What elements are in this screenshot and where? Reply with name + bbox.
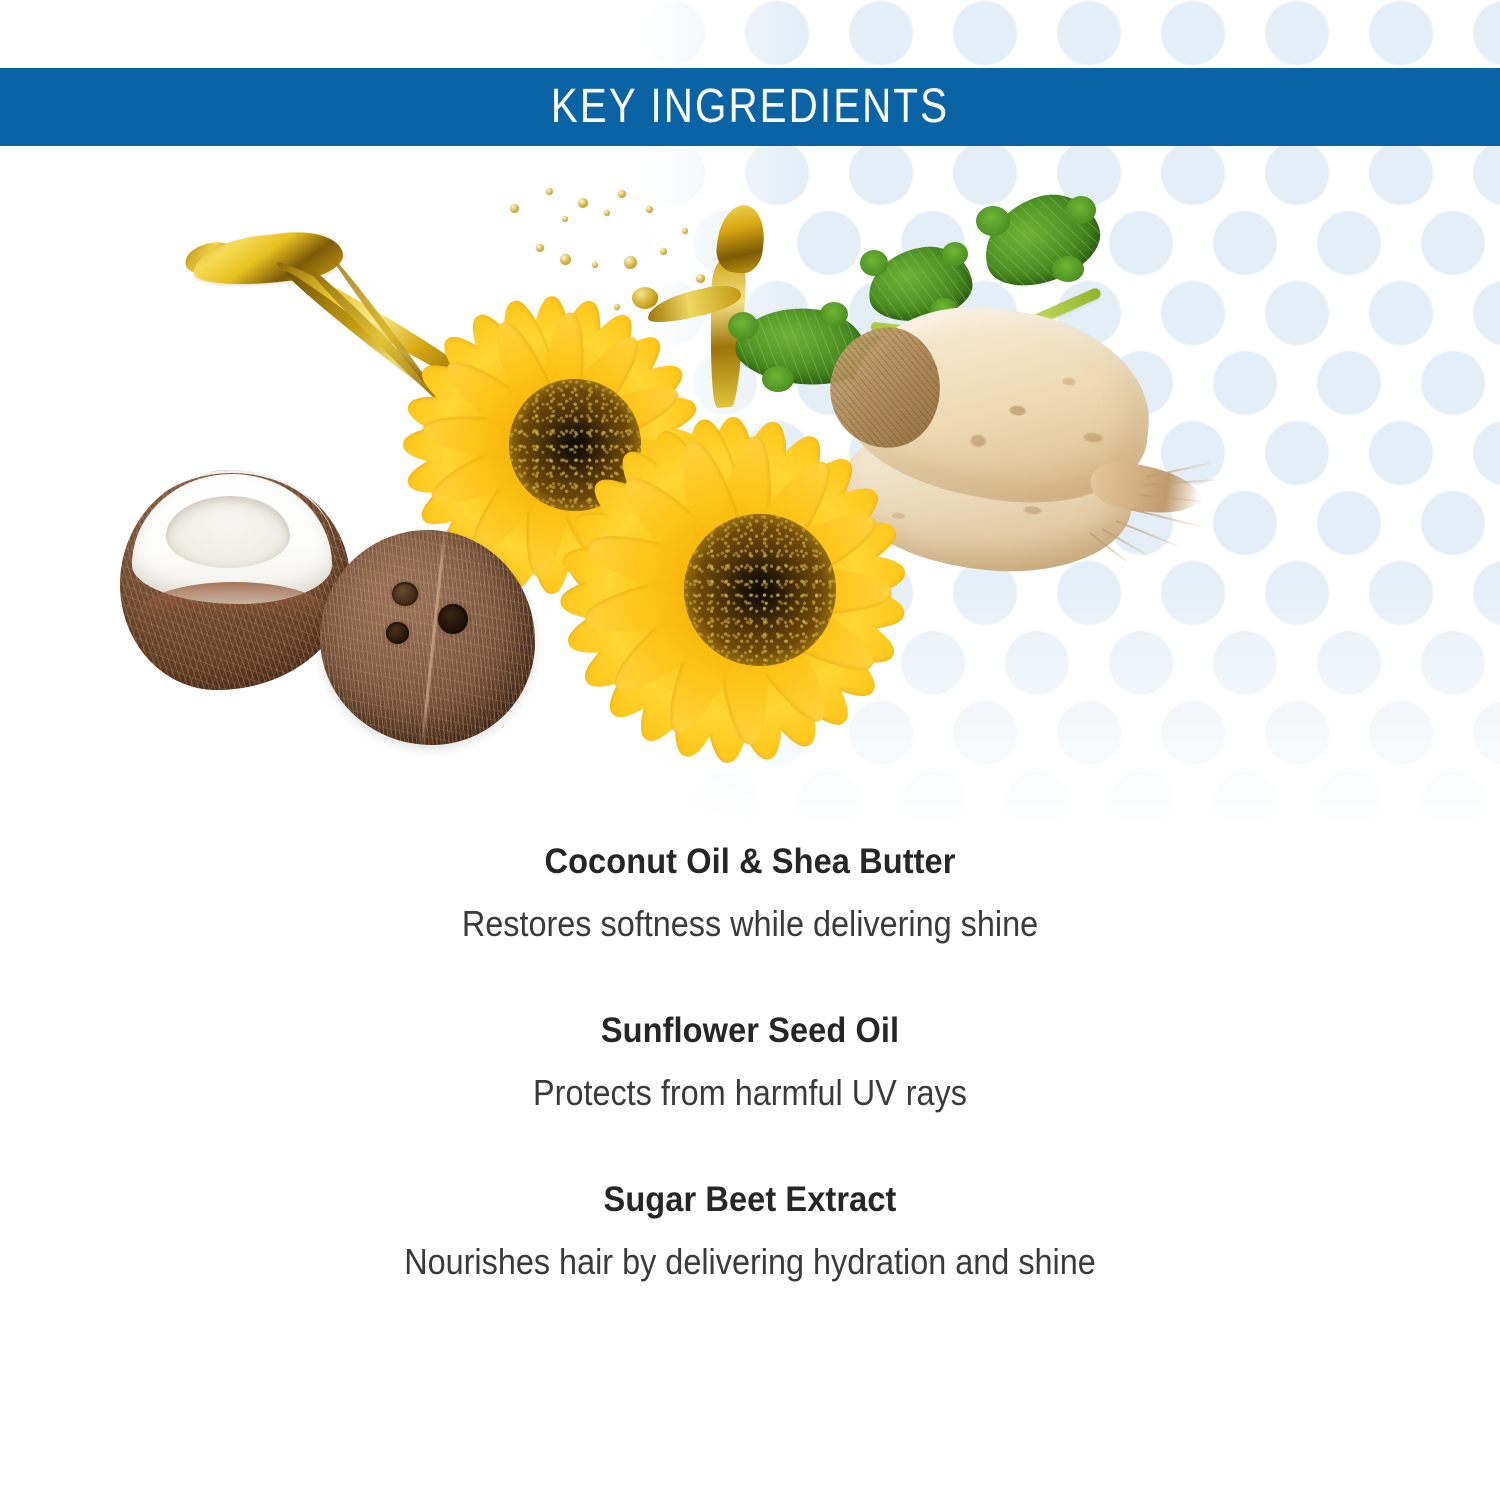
ingredient-name: Coconut Oil & Shea Butter bbox=[53, 840, 1448, 885]
ingredients-list: Coconut Oil & Shea Butter Restores softn… bbox=[0, 840, 1500, 1285]
coconut-whole-icon bbox=[320, 530, 535, 745]
ingredient-item: Coconut Oil & Shea Butter Restores softn… bbox=[0, 840, 1500, 947]
ingredient-description: Restores softness while delivering shine bbox=[75, 901, 1425, 947]
infographic-canvas: KEY INGREDIENTS bbox=[0, 0, 1500, 1500]
ingredient-description: Nourishes hair by delivering hydration a… bbox=[75, 1239, 1425, 1285]
banner-title: KEY INGREDIENTS bbox=[551, 83, 949, 131]
key-ingredients-banner: KEY INGREDIENTS bbox=[0, 68, 1500, 146]
ingredient-item: Sunflower Seed Oil Protects from harmful… bbox=[0, 1009, 1500, 1116]
ingredient-description: Protects from harmful UV rays bbox=[75, 1070, 1425, 1116]
sunflower-core-rim bbox=[684, 514, 836, 666]
ingredient-name: Sunflower Seed Oil bbox=[53, 1009, 1448, 1054]
sunflower-icon-front bbox=[580, 410, 940, 770]
hero-image-group bbox=[0, 150, 1500, 810]
ingredient-name: Sugar Beet Extract bbox=[53, 1178, 1448, 1223]
coconut-half-icon bbox=[120, 470, 350, 700]
ingredient-item: Sugar Beet Extract Nourishes hair by del… bbox=[0, 1178, 1500, 1285]
